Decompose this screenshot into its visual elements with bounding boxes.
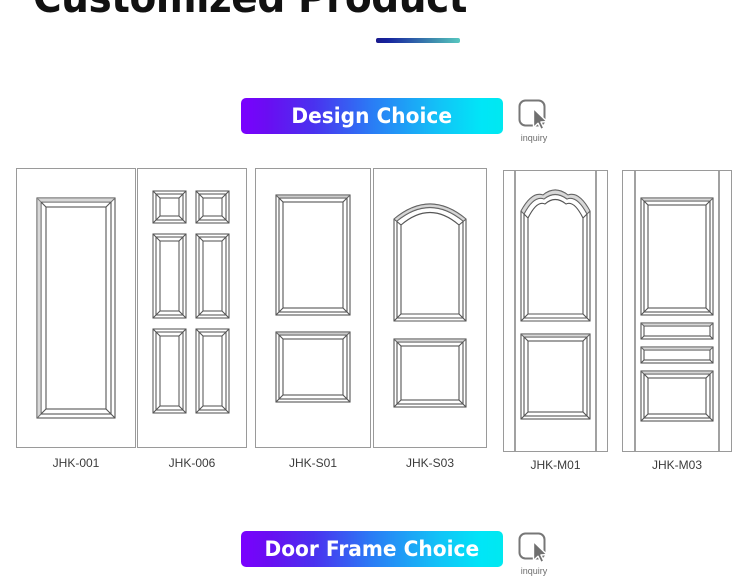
door-caption: JHK-S03 [373,456,487,470]
design-inquiry-caption: inquiry [521,133,548,144]
door-frame-choice-row: Door Frame Choice inquiry [241,531,554,577]
design-choice-label: Design Choice [292,106,453,127]
door-illustration-jhk-006 [138,169,246,447]
page-header: Customized Product [0,0,500,22]
cursor-pointer-icon[interactable] [517,98,551,132]
door-illustration-jhk-001 [17,169,135,447]
door-frame-choice-label: Door Frame Choice [265,539,480,560]
door-card[interactable] [373,168,487,448]
door-cell-jhk-006[interactable]: JHK-006 [137,168,247,473]
frame-inquiry-caption: inquiry [521,566,548,577]
door-cell-jhk-m01[interactable]: JHK-M01 [503,168,608,473]
door-card[interactable] [503,170,608,452]
door-cell-jhk-001[interactable]: JHK-001 [16,168,136,473]
door-illustration-jhk-s03 [374,169,486,447]
door-caption: JHK-006 [137,456,247,470]
door-card[interactable] [16,168,136,448]
door-caption: JHK-S01 [255,456,371,470]
door-card[interactable] [137,168,247,448]
cursor-pointer-icon[interactable] [517,531,551,565]
design-inquiry-block[interactable]: inquiry [514,98,554,144]
door-caption: JHK-M03 [622,458,732,472]
design-choice-row: Design Choice inquiry [241,98,554,144]
door-caption: JHK-001 [16,456,136,470]
door-card[interactable] [255,168,371,448]
door-card[interactable] [622,170,732,452]
title-accent-rule [376,38,460,43]
page-title: Customized Product [18,0,483,22]
door-illustration-jhk-s01 [256,169,370,447]
door-cell-jhk-m03[interactable]: JHK-M03 [622,168,732,473]
door-illustration-jhk-m01 [504,171,607,451]
door-design-gallery: JHK-001 [0,168,750,473]
door-cell-jhk-s01[interactable]: JHK-S01 [255,168,371,473]
door-caption: JHK-M01 [503,458,608,472]
door-frame-choice-button[interactable]: Door Frame Choice [241,531,503,567]
door-cell-jhk-s03[interactable]: JHK-S03 [373,168,487,473]
door-illustration-jhk-m03 [623,171,731,451]
design-choice-button[interactable]: Design Choice [241,98,503,134]
frame-inquiry-block[interactable]: inquiry [514,531,554,577]
